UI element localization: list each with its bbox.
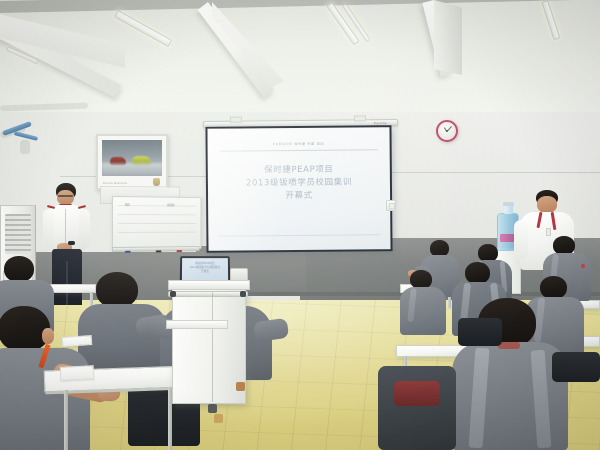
wristwatch — [68, 241, 75, 245]
framed-poster: Porsche Motorsport — [96, 134, 168, 190]
instructor-arm — [514, 220, 528, 260]
caster-wheel — [236, 382, 245, 391]
marker-black — [156, 250, 162, 252]
chair — [552, 352, 600, 382]
ceiling-edge-beam — [0, 0, 600, 13]
whiteboard-writing — [125, 203, 130, 206]
wall-seam — [380, 172, 600, 173]
poster-caption: Porsche Motorsport — [103, 182, 127, 185]
clock-center-hub — [446, 130, 448, 132]
glasses-icon — [58, 195, 73, 197]
whiteboard — [112, 196, 201, 250]
poster-water-spray — [102, 163, 162, 176]
instructor-face — [537, 196, 557, 213]
student-uniform — [400, 287, 446, 335]
presenter-arm-left — [43, 209, 54, 247]
presenter-laptop[interactable]: 保时捷PEAP项目 2013级钣喷学员校园集训 开幕式 — [180, 256, 230, 282]
whiteboard-markings — [118, 205, 196, 239]
tube-glow — [121, 15, 166, 42]
ceiling-light-tube — [114, 10, 172, 47]
classroom-photo: Porsche Motorsport Porsche PORSCHE 保时捷 中… — [0, 0, 600, 450]
porsche-crest-icon — [153, 178, 160, 186]
roller-bracket — [230, 117, 242, 123]
student-head — [465, 262, 490, 284]
whiteboard-writing — [167, 204, 175, 207]
notebook-paper — [62, 335, 93, 347]
light-switch[interactable] — [386, 200, 396, 211]
wall-clock — [436, 120, 458, 142]
lectern-panel-seam — [212, 292, 213, 402]
laptop-slide-text: 保时捷PEAP项目 2013级钣喷学员校园集训 开幕式 — [182, 262, 228, 274]
student-head — [540, 276, 567, 299]
ac-vent-grille — [5, 214, 31, 254]
lectern-top-surface — [168, 280, 250, 290]
student-head — [4, 256, 34, 282]
backpack-panel — [394, 381, 441, 406]
laptop-display: 保时捷PEAP项目 2013级钣喷学员校园集训 开幕式 — [182, 258, 228, 280]
student-uniform — [0, 348, 90, 450]
ceiling-beam — [198, 2, 275, 98]
presenter-arm-right — [79, 209, 90, 247]
screen-surface: PORSCHE 保时捷 中国 培训 保时捷PEAP项目 2013级钣喷学员校园集… — [207, 127, 390, 251]
trouser-seam — [66, 261, 68, 305]
student-arm — [253, 318, 289, 343]
lectern-cart — [172, 286, 246, 404]
student-ear — [42, 328, 54, 344]
caster-wheel — [208, 404, 217, 413]
backpack — [378, 366, 456, 450]
laptop-line-3: 开幕式 — [182, 270, 228, 274]
caster-wheel — [214, 414, 223, 423]
notebook-paper — [60, 365, 95, 381]
ceiling-light-tube — [541, 0, 560, 40]
ceiling-beam-face — [434, 0, 462, 75]
roller-bracket — [354, 115, 366, 121]
student-head — [96, 272, 138, 308]
uniform-badge — [581, 264, 585, 268]
pipe-bracket — [20, 140, 30, 154]
tube-glow — [545, 5, 557, 36]
lectern-shelf — [166, 320, 228, 329]
chair — [458, 318, 502, 346]
student — [400, 270, 446, 332]
student-head — [0, 306, 50, 352]
poster-image — [102, 140, 162, 176]
lectern-handle-bar[interactable] — [168, 291, 248, 297]
projection-screen: PORSCHE 保时捷 中国 培训 保时捷PEAP项目 2013级钣喷学员校园集… — [205, 125, 392, 253]
lectern-knob[interactable] — [170, 291, 176, 297]
lectern-knob[interactable] — [240, 291, 246, 297]
screen-glare — [207, 127, 347, 251]
ceiling — [0, 0, 600, 112]
id-badge — [546, 228, 551, 236]
marker-red — [176, 250, 182, 252]
desk-leg — [64, 390, 68, 450]
switch-rocker[interactable] — [389, 203, 395, 209]
marker-blue — [125, 251, 131, 253]
presenter-face — [57, 190, 74, 205]
